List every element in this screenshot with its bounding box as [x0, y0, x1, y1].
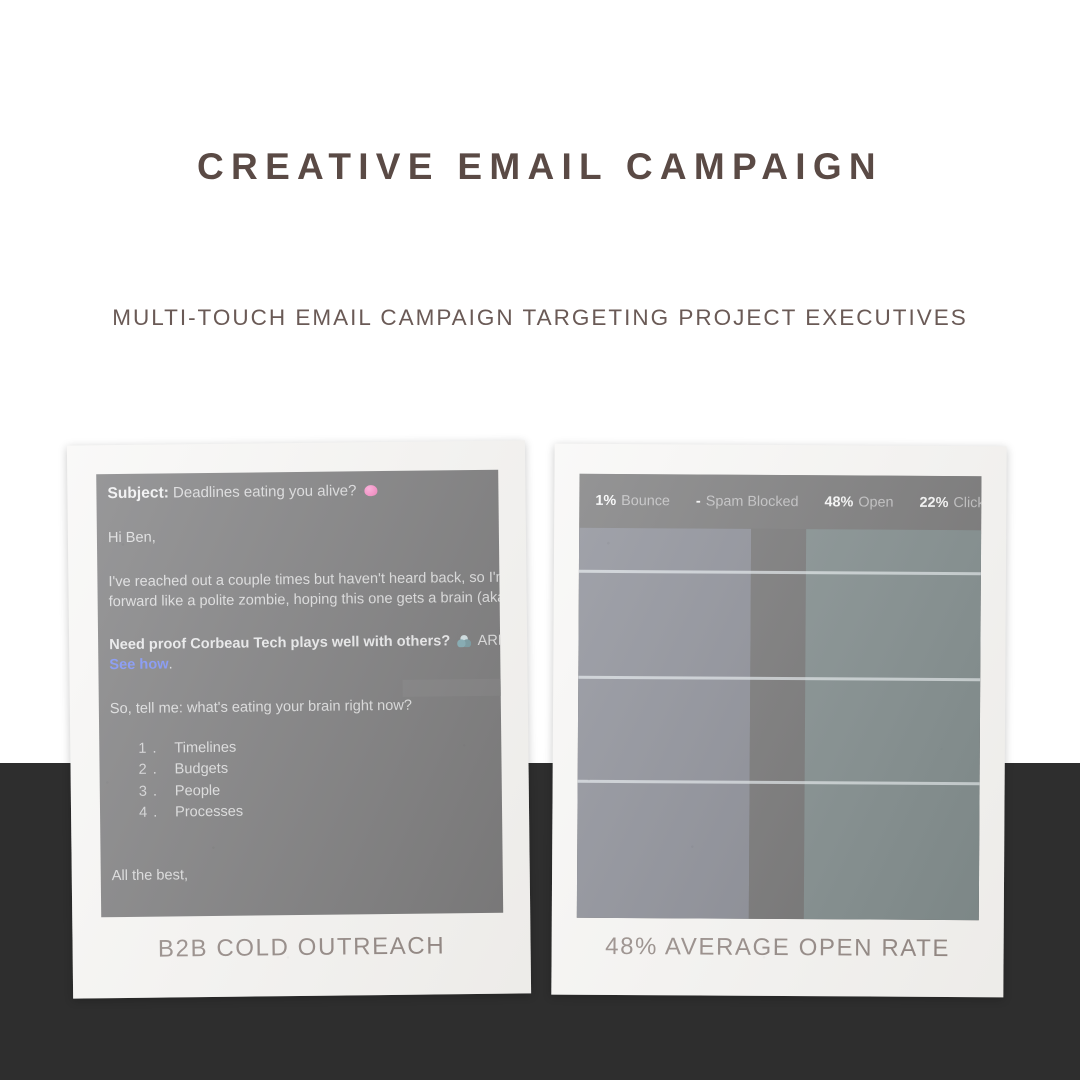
- stat-spam-label: Spam Blocked: [706, 494, 799, 511]
- page-title: CREATIVE EMAIL CAMPAIGN: [0, 146, 1080, 188]
- chart-column-teal: [804, 529, 981, 920]
- email-signoff: All the best,: [112, 862, 504, 887]
- email-screenshot: Subject: Deadlines eating you alive? Hi …: [96, 470, 503, 918]
- email-options-list: Timelines Budgets People Processes: [110, 734, 503, 825]
- email-proof-tail: ARH b: [477, 633, 503, 649]
- email-link-trailing: .: [168, 657, 172, 673]
- stat-open-value: 48%: [825, 494, 854, 510]
- stat-open: 48%Open: [825, 494, 894, 510]
- caption-left: B2B COLD OUTREACH: [72, 931, 530, 964]
- see-how-link[interactable]: See how: [109, 657, 168, 674]
- email-subject-text: Deadlines eating you alive?: [173, 482, 357, 501]
- polaroid-card-right[interactable]: 1%Bounce -Spam Blocked 48%Open 22%Click …: [551, 444, 1006, 998]
- stat-bounce-label: Bounce: [621, 493, 670, 509]
- stats-bar: 1%Bounce -Spam Blocked 48%Open 22%Click: [579, 474, 981, 530]
- chart-area: [577, 528, 981, 920]
- stat-spam-value: -: [696, 493, 701, 509]
- chart-column-slate: [577, 528, 751, 919]
- email-subject-label: Subject:: [107, 484, 169, 502]
- stat-click-label: Click: [953, 495, 981, 511]
- stat-spam-blocked: -Spam Blocked: [696, 493, 799, 510]
- stat-bounce-value: 1%: [595, 493, 616, 509]
- brain-emoji: [364, 485, 377, 496]
- chart-column-gap: [749, 529, 806, 919]
- list-item: Processes: [139, 798, 503, 824]
- analytics-screenshot: 1%Bounce -Spam Blocked 48%Open 22%Click: [577, 474, 982, 920]
- stat-open-label: Open: [858, 494, 893, 510]
- stat-bounce: 1%Bounce: [595, 493, 670, 509]
- stat-click-value: 22%: [920, 495, 949, 511]
- email-proof-bold: Need proof Corbeau Tech plays well with …: [109, 634, 450, 654]
- page-subtitle: MULTI-TOUCH EMAIL CAMPAIGN TARGETING PRO…: [0, 305, 1080, 331]
- caption-right: 48% AVERAGE OPEN RATE: [552, 933, 1004, 964]
- redaction-block: [403, 679, 504, 697]
- handshake-emoji: [457, 635, 471, 647]
- polaroid-card-left[interactable]: Subject: Deadlines eating you alive? Hi …: [67, 440, 531, 998]
- stat-click: 22%Click: [920, 495, 982, 511]
